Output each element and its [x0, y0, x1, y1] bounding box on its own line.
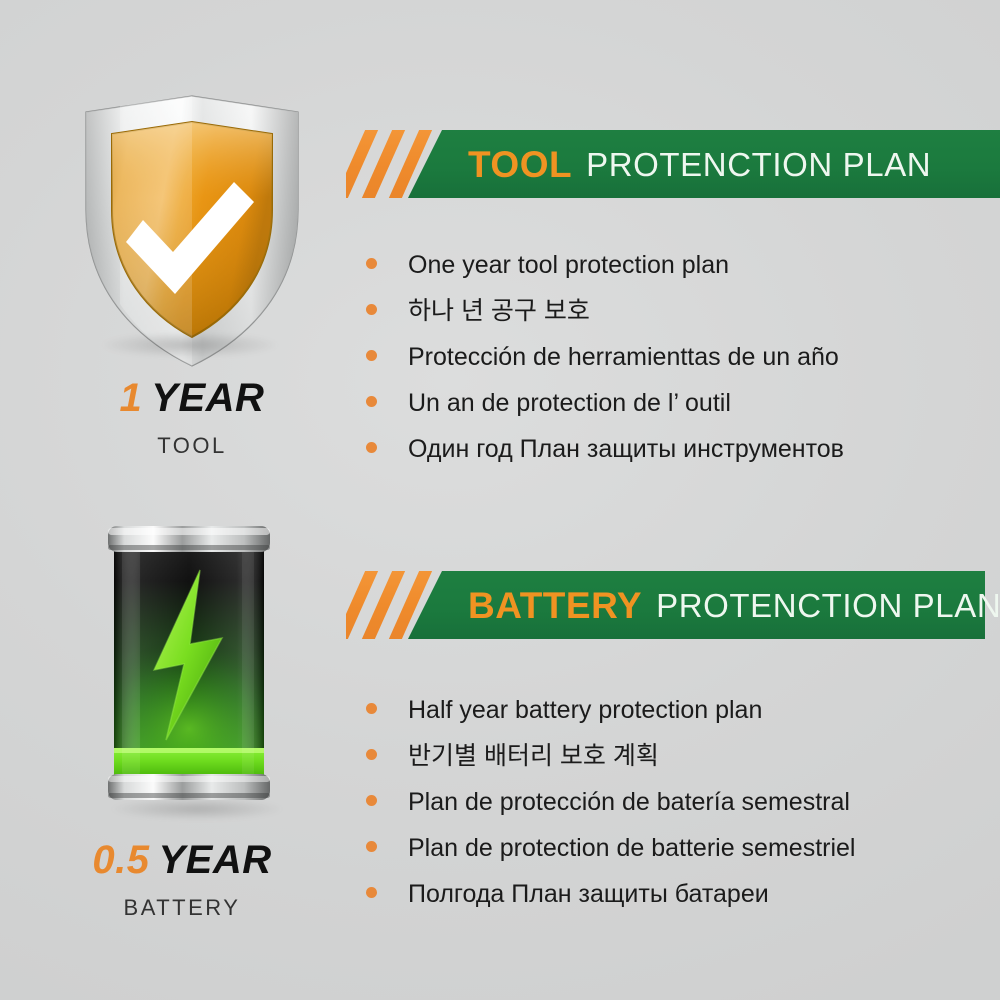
bullet-dot-icon	[366, 795, 377, 806]
tool-banner-text: TOOL PROTENCTION PLAN	[468, 130, 931, 198]
list-item: Plan de protección de batería semestral	[366, 789, 855, 835]
list-item: Один год План защиты инструментов	[366, 436, 844, 482]
battery-caption-main: 0.5YEAR	[32, 840, 332, 880]
list-item-label: Un an de protection de l’ outil	[408, 390, 731, 418]
bullet-dot-icon	[366, 396, 377, 407]
list-item-label: Plan de protection de batterie semestrie…	[408, 835, 855, 863]
list-item: Un an de protection de l’ outil	[366, 390, 844, 436]
battery-banner-rest: PROTENCTION PLAN	[656, 589, 1000, 622]
list-item: Protección de herramienttas de un año	[366, 344, 844, 390]
list-item: One year tool protection plan	[366, 252, 844, 298]
tool-banner-rest: PROTENCTION PLAN	[586, 148, 931, 181]
list-item-label: Полгода План защиты батареи	[408, 881, 769, 909]
shield-check-icon	[72, 92, 312, 370]
list-item-label: Protección de herramienttas de un año	[408, 344, 839, 372]
battery-shadow	[112, 798, 282, 820]
tool-duration-number: 1	[120, 376, 143, 420]
battery-charging-svg	[96, 512, 296, 822]
battery-duration-number: 0.5	[92, 838, 149, 882]
bullet-dot-icon	[366, 887, 377, 898]
tool-banner: TOOL PROTENCTION PLAN	[346, 130, 1000, 198]
list-item-label: Half year battery protection plan	[408, 697, 762, 725]
battery-banner-text: BATTERY PROTENCTION PLAN	[468, 571, 1000, 639]
list-item: Plan de protection de batterie semestrie…	[366, 835, 855, 881]
tool-caption: 1YEAR TOOL	[42, 378, 342, 459]
battery-bullet-list: Half year battery protection plan 반기별 배터…	[366, 697, 855, 927]
tool-caption-sub: TOOL	[42, 433, 342, 459]
bullet-dot-icon	[366, 442, 377, 453]
list-item: Полгода План защиты батареи	[366, 881, 855, 927]
tool-bullet-list: One year tool protection plan 하나 년 공구 보호…	[366, 252, 844, 482]
bullet-dot-icon	[366, 350, 377, 361]
shield-shadow	[100, 332, 280, 358]
list-item-label: One year tool protection plan	[408, 252, 729, 280]
battery-duration-unit: YEAR	[158, 838, 271, 882]
infographic-page: 1YEAR TOOL TOOL PROTENCTION PLAN One yea…	[0, 0, 1000, 1000]
list-item: Half year battery protection plan	[366, 697, 855, 743]
bullet-dot-icon	[366, 304, 377, 315]
bullet-dot-icon	[366, 258, 377, 269]
battery-charging-icon	[96, 512, 296, 822]
list-item-label: 반기별 배터리 보호 계획	[408, 743, 659, 771]
shield-check-svg	[72, 92, 312, 370]
tool-banner-strong: TOOL	[468, 146, 572, 183]
tool-caption-main: 1YEAR	[42, 378, 342, 418]
battery-caption-sub: BATTERY	[32, 895, 332, 921]
list-item-label: Один год План защиты инструментов	[408, 436, 844, 464]
battery-banner-strong: BATTERY	[468, 587, 642, 624]
battery-banner: BATTERY PROTENCTION PLAN	[346, 571, 985, 639]
bullet-dot-icon	[366, 841, 377, 852]
list-item-label: 하나 년 공구 보호	[408, 298, 590, 326]
list-item: 반기별 배터리 보호 계획	[366, 743, 855, 789]
list-item: 하나 년 공구 보호	[366, 298, 844, 344]
bullet-dot-icon	[366, 749, 377, 760]
battery-caption: 0.5YEAR BATTERY	[32, 840, 332, 921]
list-item-label: Plan de protección de batería semestral	[408, 789, 850, 817]
bullet-dot-icon	[366, 703, 377, 714]
tool-duration-unit: YEAR	[151, 376, 264, 420]
